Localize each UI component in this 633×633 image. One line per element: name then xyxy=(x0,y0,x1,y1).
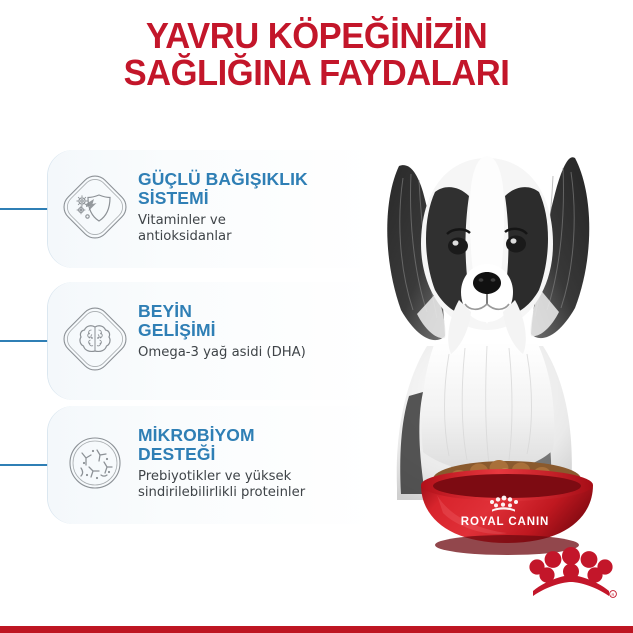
promo-banner: YAVRU KÖPEĞİNİZİN SAĞLIĞINA FAYDALARI xyxy=(0,0,633,633)
page-title: YAVRU KÖPEĞİNİZİN SAĞLIĞINA FAYDALARI xyxy=(0,18,633,91)
feature-subtext: Prebiyotikler ve yüksek sindirilebilirli… xyxy=(138,469,388,501)
shield-germ-icon xyxy=(60,172,130,242)
feature-item-immunity[interactable]: GÜÇLÜ BAĞIŞIKLIK SİSTEMİ Vitaminler ve a… xyxy=(0,150,400,276)
feature-heading: BEYİN GELİŞİMİ xyxy=(138,302,388,340)
title-line-2: SAĞLIĞINA FAYDALARI xyxy=(13,55,621,90)
title-line-1: YAVRU KÖPEĞİNİZİN xyxy=(13,18,621,53)
svg-text:R: R xyxy=(612,592,615,597)
microbiome-bacteria-icon xyxy=(60,428,130,498)
feature-item-microbiome[interactable]: MİKROBİYOM DESTEĞİ Prebiyotikler ve yüks… xyxy=(0,406,400,532)
feature-item-brain[interactable]: BEYİN GELİŞİMİ Omega-3 yağ asidi (DHA) xyxy=(0,282,400,400)
royal-canin-crown-icon: R xyxy=(523,541,619,603)
footer-accent-bar xyxy=(0,626,633,633)
feature-subtext: Omega-3 yağ asidi (DHA) xyxy=(138,345,388,361)
bowl-brand-text: ROYAL CANIN xyxy=(461,516,550,528)
feature-subtext: Vitaminler ve antioksidanlar xyxy=(138,213,388,245)
feature-heading: GÜÇLÜ BAĞIŞIKLIK SİSTEMİ xyxy=(138,170,388,208)
feature-list: GÜÇLÜ BAĞIŞIKLIK SİSTEMİ Vitaminler ve a… xyxy=(0,150,400,538)
feature-heading: MİKROBİYOM DESTEĞİ xyxy=(138,426,388,464)
brain-icon xyxy=(60,304,130,374)
